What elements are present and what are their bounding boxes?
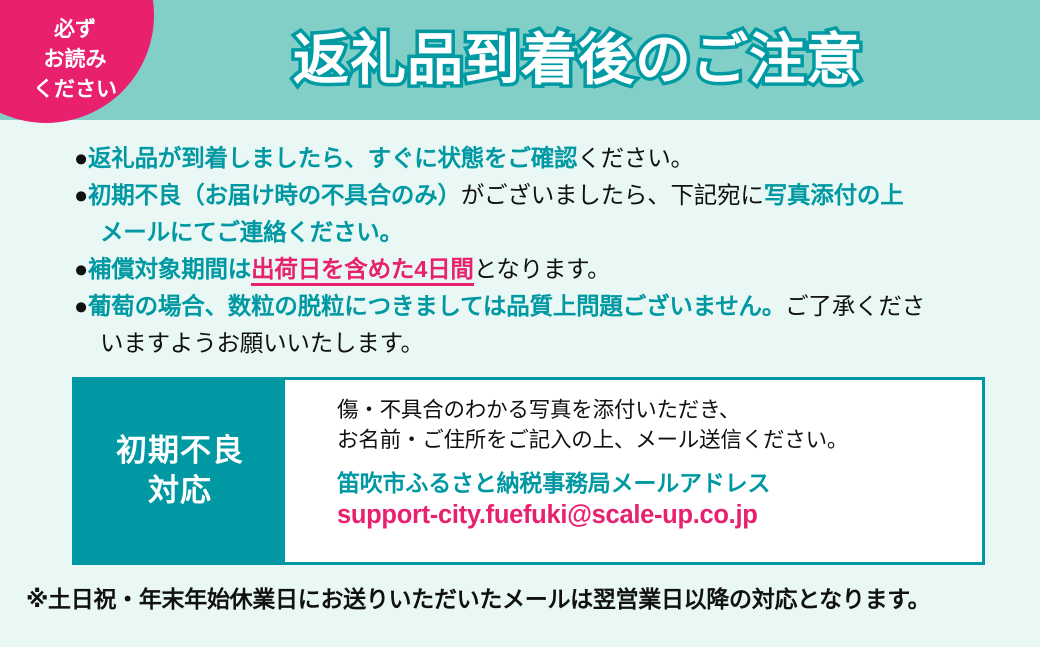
mail-address-label: 笛吹市ふるさと納税事務局メールアドレス	[337, 464, 982, 498]
bullet-segment: 初期不良（お届け時の不具合のみ）	[88, 182, 461, 208]
initial-defect-label-line1: 初期不良	[116, 431, 244, 471]
instruction-line-1: 傷・不具合のわかる写真を添付いただき、	[337, 395, 982, 425]
notice-bullet-list: ●返礼品が到着しましたら、すぐに状態をご確認ください。 ●初期不良（お届け時の不…	[74, 140, 1004, 362]
bullet-segment: 葡萄の場合、数粒の脱粒につきましては品質上問題ございません。	[88, 293, 785, 319]
must-read-badge: 必ず お読み ください	[0, 0, 154, 123]
list-item: ●補償対象期間は出荷日を含めた4日間となります。	[74, 251, 1004, 288]
bullet-segment: 写真添付の上	[764, 182, 904, 208]
bullet-segment: となります。	[474, 256, 611, 282]
initial-defect-label-line2: 対応	[148, 471, 212, 511]
must-read-badge-label: 必ず お読み ください	[0, 15, 150, 104]
bullet-marker: ●	[74, 182, 88, 208]
bullet-segment: 補償対象期間は	[88, 256, 251, 282]
list-item: ●初期不良（お届け時の不具合のみ）がございましたら、下記宛に写真添付の上 メール…	[74, 177, 1004, 251]
bullet-segment: 到着しましたら、すぐに状態をご確認	[181, 145, 577, 171]
bullet-segment-highlight: 出荷日を含めた4日間	[251, 256, 474, 286]
instruction-line-2: お名前・ご住所をご記入の上、メール送信ください。	[337, 425, 982, 455]
bullet-marker: ●	[74, 256, 88, 282]
initial-defect-label: 初期不良 対応	[75, 380, 285, 562]
initial-defect-box: 初期不良 対応 傷・不具合のわかる写真を添付いただき、 お名前・ご住所をご記入の…	[72, 377, 985, 565]
list-item: ●葡萄の場合、数粒の脱粒につきましては品質上問題ございません。ご了承くださ いま…	[74, 288, 1004, 362]
footer-note: ※土日祝・年末年始休業日にお送りいただいたメールは翌営業日以降の対応となります。	[26, 580, 1026, 614]
bullet-segment: ご了承くださ	[785, 293, 925, 319]
page-title: 返礼品到着後のご注意	[258, 20, 898, 100]
bullet-segment: 返礼品が	[88, 145, 181, 171]
bullet-marker: ●	[74, 293, 88, 319]
bullet-marker: ●	[74, 145, 88, 171]
list-item: ●返礼品が到着しましたら、すぐに状態をご確認ください。	[74, 140, 1004, 177]
mail-address-value[interactable]: support-city.fuefuki@scale-up.co.jp	[337, 501, 982, 530]
bullet-segment: ください。	[577, 145, 694, 171]
bullet-segment: がございましたら、下記宛に	[461, 182, 764, 208]
header-band: 返礼品到着後のご注意 必ず お読み ください	[0, 0, 1040, 120]
bullet-continuation: いますようお願いいたします。	[74, 325, 1004, 362]
initial-defect-body: 傷・不具合のわかる写真を添付いただき、 お名前・ご住所をご記入の上、メール送信く…	[285, 380, 982, 562]
bullet-continuation: メールにてご連絡ください。	[74, 214, 1004, 251]
